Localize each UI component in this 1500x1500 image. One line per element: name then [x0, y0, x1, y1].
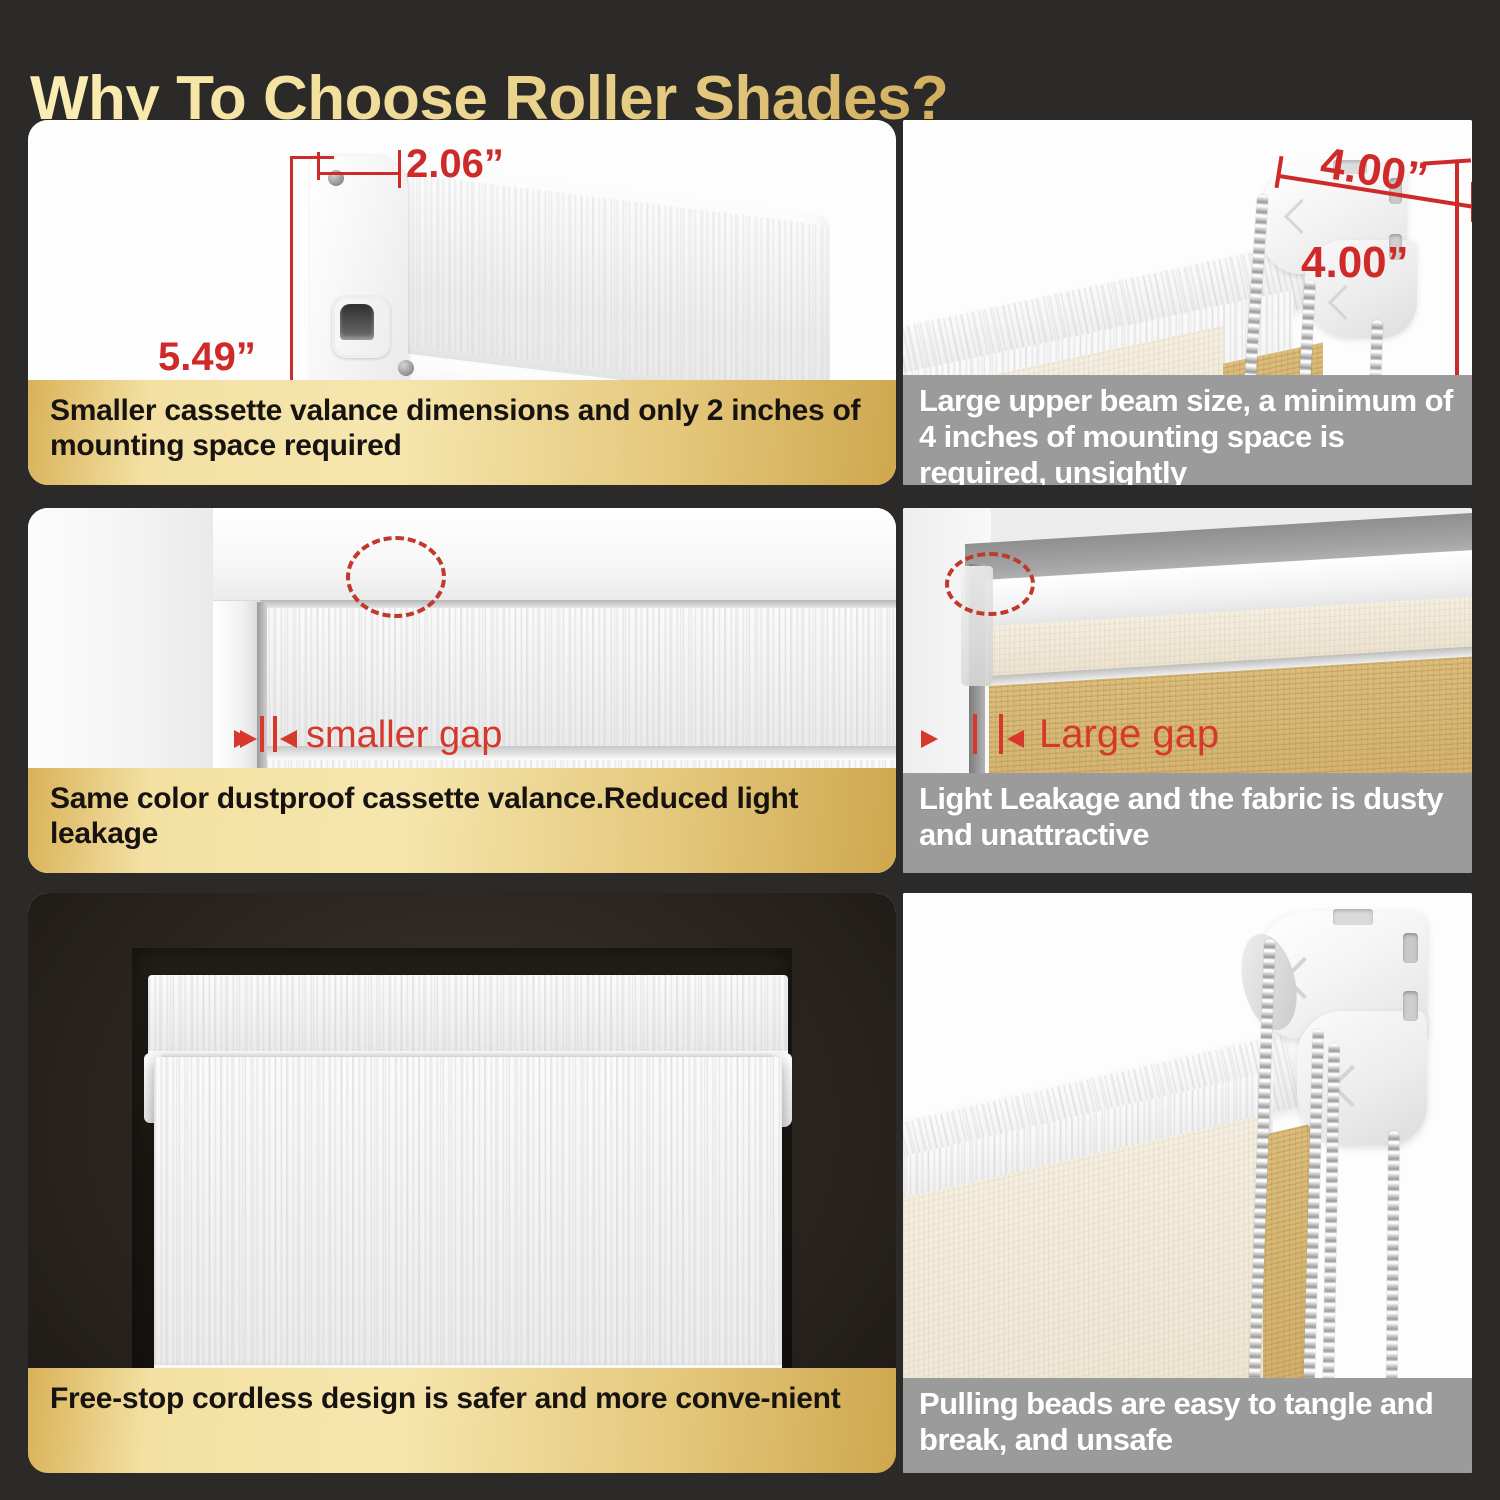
bracket-mount-slot-2 [1403, 991, 1418, 1021]
gap-tick-left [260, 716, 264, 752]
infographic-root: Why To Choose Roller Shades? [0, 0, 1500, 1500]
gap-label-large: Large gap [1039, 712, 1219, 757]
gap-tick-right [273, 716, 277, 752]
panel-bad-light-leakage: Large gap Light Leakage and the fabric i… [903, 508, 1472, 873]
panel-good-dustproof-valance: smaller gap Same color dustproof cassett… [28, 508, 896, 873]
dim-line-beam-depth [1455, 160, 1459, 400]
gap-tick-right [999, 714, 1003, 754]
gap-label-smaller: smaller gap [306, 714, 502, 757]
caption-bad-pulling-beads: Pulling beads are easy to tangle and bre… [903, 1378, 1472, 1473]
caption-good-cordless-design: Free-stop cordless design is safer and m… [28, 1368, 896, 1473]
panel-good-cassette-dimensions: 2.06” 5.49” Smaller cassette valance dim… [28, 120, 896, 485]
shade-fabric-main [154, 1057, 782, 1387]
bracket-mount-slot-1 [1403, 933, 1418, 963]
caption-good-cassette-dimensions: Smaller cassette valance dimensions and … [28, 380, 896, 485]
chain-slot-ring [332, 296, 390, 358]
dim-tick-width-right [398, 150, 401, 188]
caption-text: Smaller cassette valance dimensions and … [50, 394, 876, 464]
dimension-label-beam-depth: 4.00” [1301, 238, 1409, 288]
caption-text: Pulling beads are easy to tangle and bre… [919, 1386, 1458, 1458]
caption-text: Large upper beam size, a minimum of 4 in… [919, 383, 1458, 485]
dim-tick-height-top [290, 156, 334, 159]
highlight-ellipse-gap [346, 536, 446, 618]
caption-good-dustproof-valance: Same color dustproof cassette valance.Re… [28, 768, 896, 873]
dimension-label-width: 2.06” [406, 142, 504, 187]
caption-text: Free-stop cordless design is safer and m… [50, 1382, 840, 1417]
bracket-notch [1333, 909, 1373, 925]
dimension-label-height: 5.49” [158, 335, 256, 380]
panel-good-cordless-design: Free-stop cordless design is safer and m… [28, 893, 896, 1473]
panel-bad-pulling-beads: Pulling beads are easy to tangle and bre… [903, 893, 1472, 1473]
caption-text: Same color dustproof cassette valance.Re… [50, 782, 876, 852]
gap-arrow-pointing-right [234, 730, 251, 748]
dim-tick-beam-width-right [1471, 182, 1472, 222]
shade-valance [148, 975, 788, 1055]
caption-bad-light-leakage: Light Leakage and the fabric is dusty an… [903, 773, 1472, 873]
window-frame-header [213, 508, 896, 601]
gap-arrow-pointing-right [921, 730, 938, 748]
gap-arrow-pointing-left [280, 730, 297, 748]
dim-line-width-horizontal [318, 172, 400, 175]
gap-tick-left [973, 714, 977, 754]
caption-bad-large-upper-beam: Large upper beam size, a minimum of 4 in… [903, 375, 1472, 485]
highlight-ellipse-gap [945, 552, 1035, 616]
caption-text: Light Leakage and the fabric is dusty an… [919, 781, 1458, 853]
gap-arrow-pointing-left [1007, 730, 1024, 748]
mounting-screw-mid [398, 360, 414, 376]
panel-bad-large-upper-beam: 4.00” 4.00” Large upper beam size, a min… [903, 120, 1472, 485]
